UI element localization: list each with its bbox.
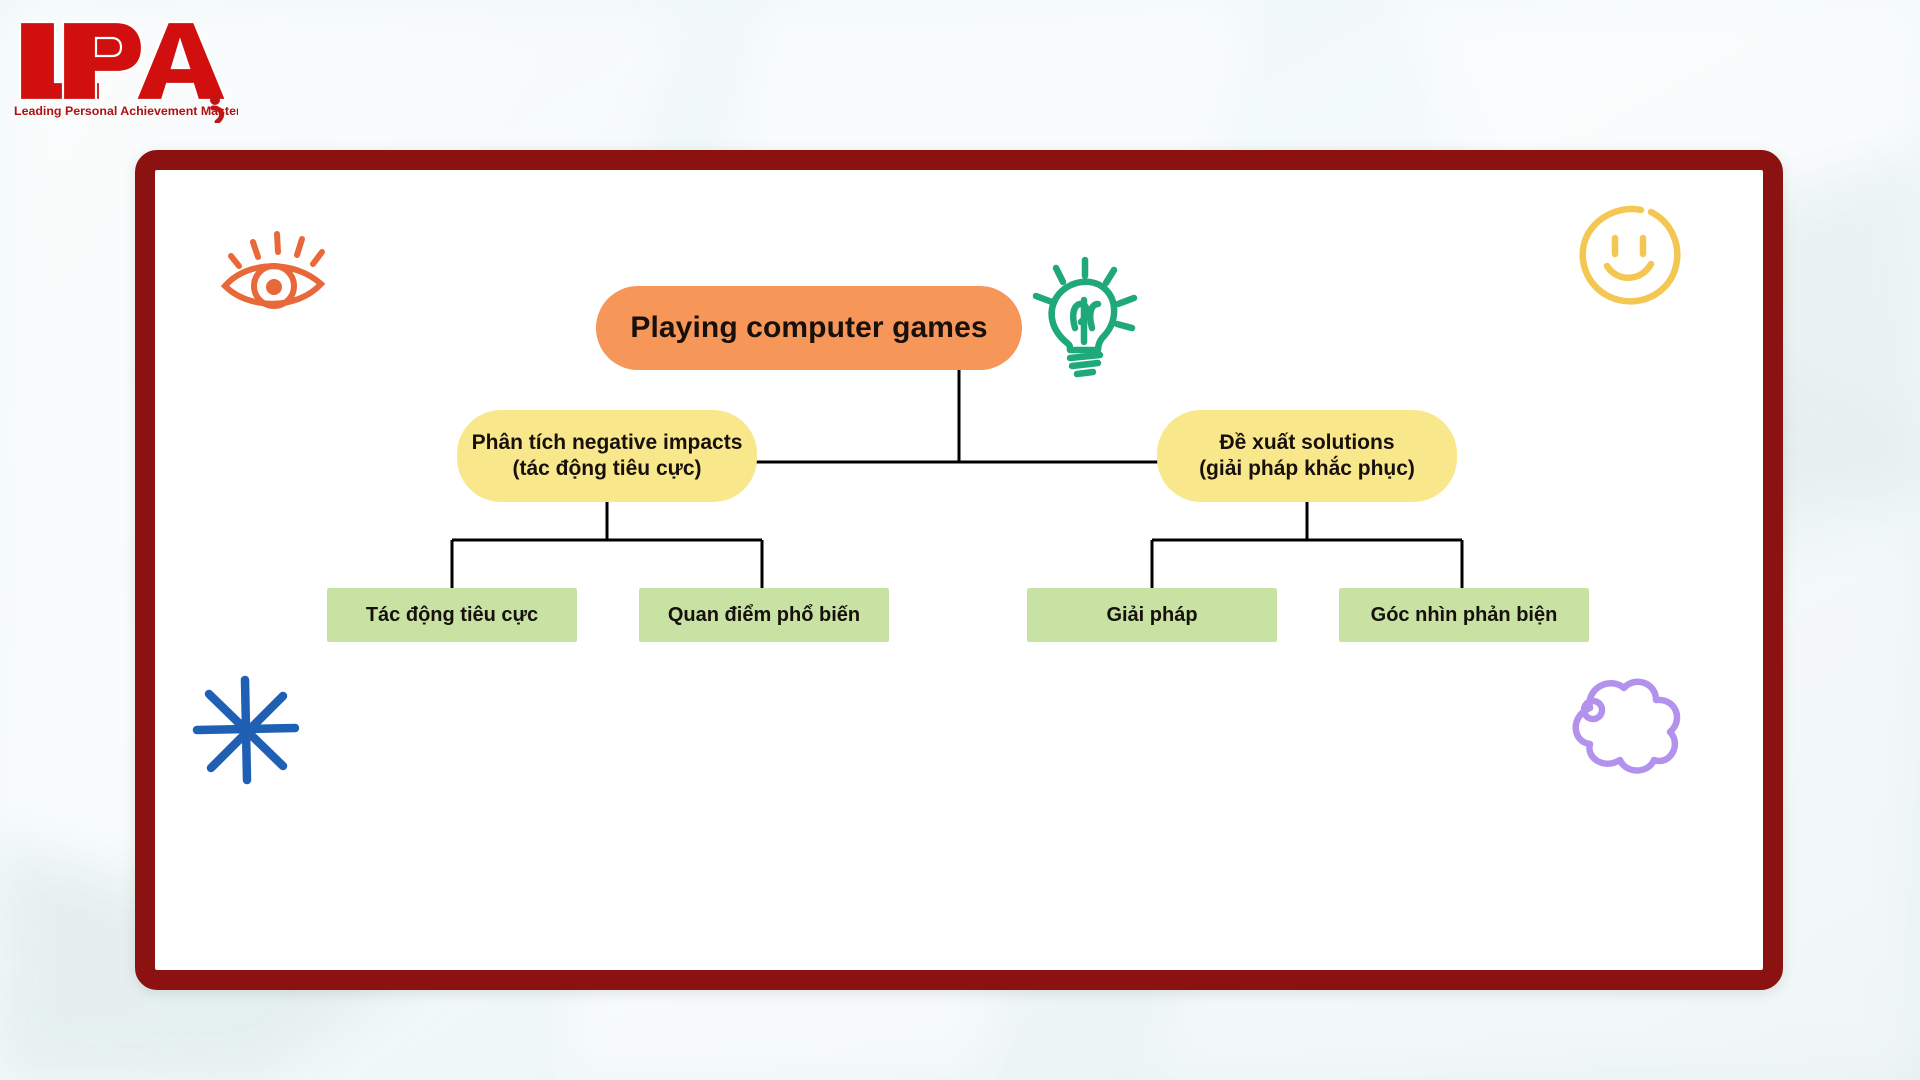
branch-label-line2: (tác động tiêu cực): [512, 456, 701, 482]
root-node-label: Playing computer games: [630, 310, 987, 347]
cloud-icon: [1560, 670, 1688, 782]
branch-node-negative-impacts[interactable]: Phân tích negative impacts (tác động tiê…: [457, 410, 757, 502]
lpa-logo: Leading Personal Achievement Mastery: [8, 8, 238, 123]
root-node[interactable]: Playing computer games: [596, 286, 1022, 370]
branch-node-solutions[interactable]: Đề xuất solutions (giải pháp khắc phục): [1157, 410, 1457, 502]
leaf-node-label: Giải pháp: [1106, 603, 1197, 627]
branch-label-line1: Phân tích negative impacts: [472, 430, 743, 456]
asterisk-icon: [183, 670, 309, 792]
diagram-frame: Playing computer games Phân tích negativ…: [135, 150, 1783, 990]
leaf-node-goc-nhin-phan-bien[interactable]: Góc nhìn phản biện: [1339, 588, 1589, 642]
leaf-node-label: Góc nhìn phản biện: [1371, 603, 1558, 627]
leaf-node-giai-phap[interactable]: Giải pháp: [1027, 588, 1277, 642]
logo-tagline: Leading Personal Achievement Mastery: [14, 104, 238, 118]
eye-icon: [217, 220, 339, 316]
leaf-node-quan-diem-pho-bien[interactable]: Quan điểm phổ biến: [639, 588, 889, 642]
branch-label-line1: Đề xuất solutions: [1219, 430, 1394, 456]
leaf-node-label: Tác động tiêu cực: [366, 603, 538, 627]
branch-label-line2: (giải pháp khắc phục): [1199, 456, 1415, 482]
smiley-icon: [1573, 200, 1685, 312]
lightbulb-icon: [1030, 250, 1140, 378]
leaf-node-tac-dong-tieu-cuc[interactable]: Tác động tiêu cực: [327, 588, 577, 642]
leaf-node-label: Quan điểm phổ biến: [668, 603, 860, 627]
